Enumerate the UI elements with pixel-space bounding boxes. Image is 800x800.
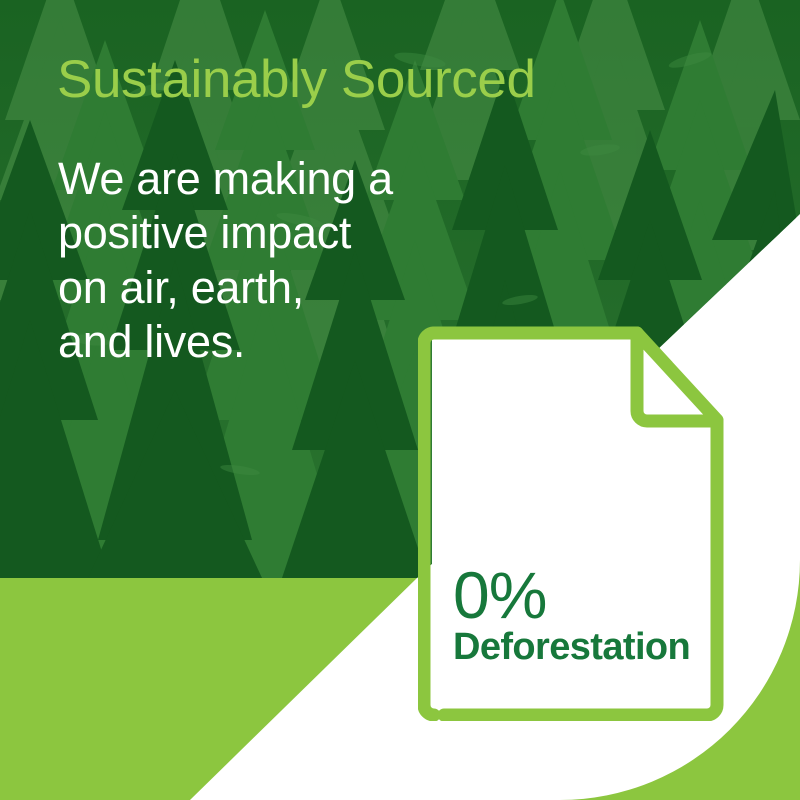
bottom-left-green-panel [0,578,417,800]
body-copy: We are making a positive impact on air, … [58,152,393,370]
body-copy-line: positive impact [58,206,393,260]
body-copy-line: We are making a [58,152,393,206]
document-stat-card: 0% Deforestation [418,321,730,721]
stat-value: 0% [453,565,715,626]
body-copy-line: on air, earth, [58,261,393,315]
page-title: Sustainably Sourced [57,52,536,108]
stat-label: Deforestation [453,628,715,668]
stat-block: 0% Deforestation [453,565,715,668]
promo-graphic-canvas: Sustainably Sourced We are making a posi… [0,0,800,800]
body-copy-line: and lives. [58,315,393,369]
